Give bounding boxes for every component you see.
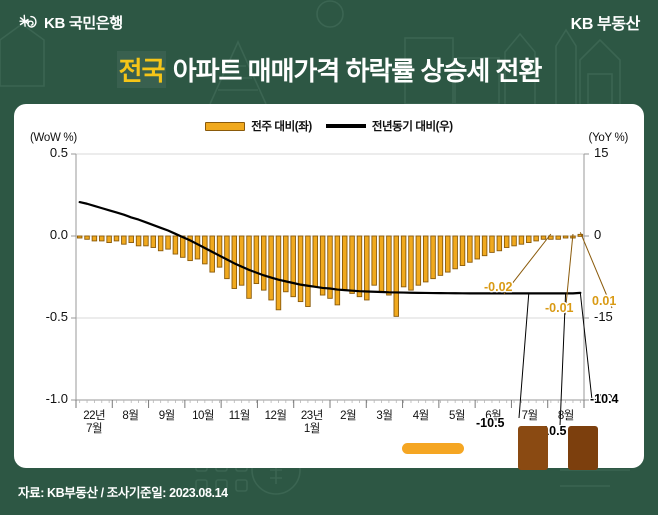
- y-axis-left-tick: 0.0: [20, 227, 68, 242]
- page-title: 전국 아파트 매매가격 하락률 상승세 전환: [0, 46, 658, 92]
- chart-card: 전주 대비(좌) 전년동기 대비(우) (WoW %) (YoY %) 0.50…: [14, 104, 644, 468]
- bar-data-label: -0.01: [545, 301, 574, 315]
- page-title-highlight: 전국: [117, 51, 167, 88]
- page-title-main: 아파트 매매가격 하락률 상승세 전환: [173, 51, 542, 88]
- line-data-label: -10.4: [590, 392, 619, 406]
- kb-logo: KB 국민은행: [18, 12, 123, 33]
- decor-brown-block: [568, 426, 598, 470]
- decor-brown-block: [518, 426, 548, 470]
- decor-orange-bar: [402, 443, 464, 454]
- kb-star-icon: [18, 12, 38, 32]
- y-axis-right-tick: 15: [594, 145, 608, 160]
- bar-data-label: 0.01: [592, 294, 616, 308]
- y-axis-right-tick: 0: [594, 227, 601, 242]
- y-axis-left-tick: -0.5: [20, 309, 68, 324]
- source-note: 자료: KB부동산 / 조사기준일: 2023.08.14: [18, 482, 228, 501]
- page-header: KB 국민은행 KB 부동산: [0, 0, 658, 44]
- kb-brand-text: KB 부동산: [571, 10, 640, 34]
- y-axis-left-tick: 0.5: [20, 145, 68, 160]
- kb-logo-text: KB 국민은행: [44, 12, 123, 33]
- y-axis-left-tick: -1.0: [20, 391, 68, 406]
- line-data-label: -10.5: [476, 416, 505, 430]
- y-axis-right-tick: -15: [594, 309, 613, 324]
- bar-data-label: -0.02: [484, 280, 513, 294]
- x-axis-tick: 8월: [544, 410, 588, 423]
